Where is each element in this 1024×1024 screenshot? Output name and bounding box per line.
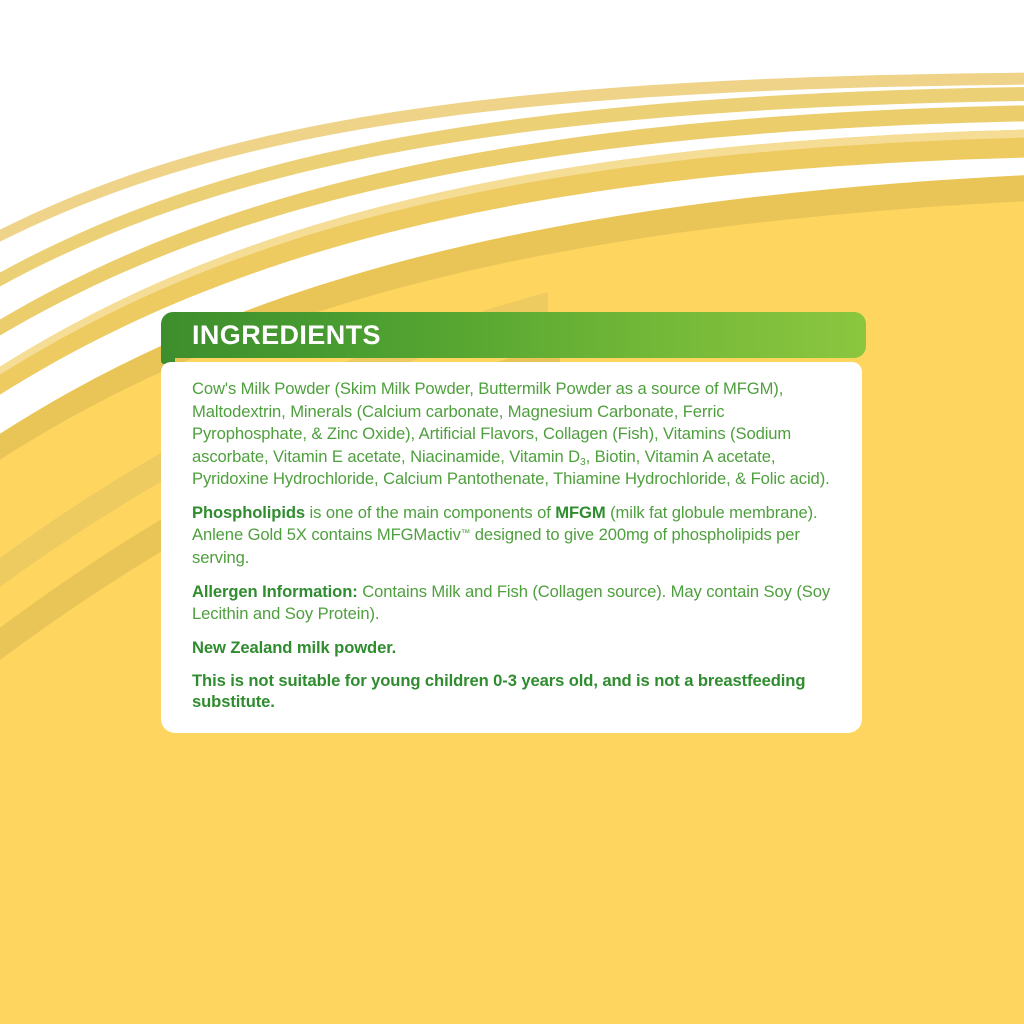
phospholipids-term: Phospholipids: [192, 503, 305, 522]
trademark-symbol: ™: [461, 528, 471, 539]
ingredients-panel-page: INGREDIENTS Cow's Milk Powder (Skim Milk…: [0, 0, 1024, 1024]
paragraph-phospholipids: Phospholipids is one of the main compone…: [192, 502, 836, 570]
paragraph-ingredients-list: Cow's Milk Powder (Skim Milk Powder, But…: [192, 378, 836, 491]
ingredients-card: INGREDIENTS Cow's Milk Powder (Skim Milk…: [161, 312, 866, 733]
phospholipids-text-part-1: is one of the main components of: [305, 503, 555, 522]
paragraph-age-warning: This is not suitable for young children …: [192, 670, 836, 714]
ingredients-card-body: Cow's Milk Powder (Skim Milk Powder, But…: [161, 362, 862, 733]
paragraph-origin-statement: New Zealand milk powder.: [192, 637, 836, 659]
ingredients-header-title: INGREDIENTS: [192, 322, 381, 349]
ingredients-header-bar: INGREDIENTS: [161, 312, 866, 358]
mfgm-term: MFGM: [555, 503, 605, 522]
allergen-information-label: Allergen Information:: [192, 582, 358, 601]
vitamin-d3-subscript: 3: [580, 457, 586, 468]
paragraph-allergen-information: Allergen Information: Contains Milk and …: [192, 581, 836, 626]
